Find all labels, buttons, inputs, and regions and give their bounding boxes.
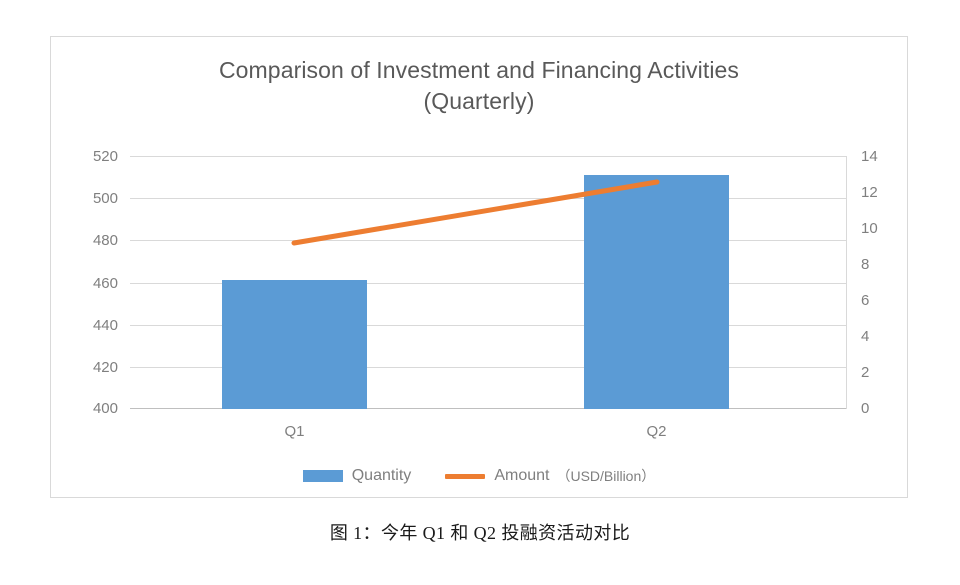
y-axis-tick-left-4: 440 (93, 318, 118, 333)
x-axis-label-q2: Q2 (584, 424, 729, 440)
y-axis-tick-right-2: 10 (861, 221, 878, 236)
y-axis-tick-right-3: 8 (861, 257, 869, 272)
legend-item-amount[interactable]: Amount （USD/Billion） (445, 467, 655, 485)
gridline-480 (130, 240, 846, 241)
gridline-520 (130, 156, 846, 157)
bar-quantity-q1[interactable] (222, 280, 367, 409)
y-axis-tick-right-7: 0 (861, 401, 869, 416)
legend-label-amount: Amount (494, 467, 549, 485)
bar-quantity-q2[interactable] (584, 175, 729, 409)
y-axis-tick-right-4: 6 (861, 293, 869, 308)
y-axis-tick-right-1: 12 (861, 185, 878, 200)
x-axis-label-q1: Q1 (222, 424, 367, 440)
y-axis-tick-left-5: 420 (93, 360, 118, 375)
legend-unit-amount: （USD/Billion） (556, 467, 655, 485)
chart-frame[interactable]: Comparison of Investment and Financing A… (50, 36, 908, 498)
bar-swatch-icon (303, 470, 343, 482)
plot-area: 520 500 480 460 440 420 400 14 12 10 8 6… (130, 156, 846, 409)
y-axis-tick-left-6: 400 (93, 401, 118, 416)
y-axis-tick-left-0: 520 (93, 149, 118, 164)
y-axis-tick-right-6: 2 (861, 365, 869, 380)
right-axis-line (846, 156, 847, 409)
legend-item-quantity[interactable]: Quantity (303, 467, 412, 485)
y-axis-tick-left-1: 500 (93, 191, 118, 206)
y-axis-tick-right-0: 14 (861, 149, 878, 164)
figure-caption: 图 1：今年 Q1 和 Q2 投融资活动对比 (0, 520, 960, 546)
figure-container: Comparison of Investment and Financing A… (0, 0, 960, 585)
y-axis-tick-left-2: 480 (93, 233, 118, 248)
chart-title: Comparison of Investment and Financing A… (51, 55, 907, 117)
gridline-500 (130, 198, 846, 199)
legend-label-quantity: Quantity (352, 467, 412, 485)
line-swatch-icon (445, 474, 485, 479)
y-axis-tick-right-5: 4 (861, 329, 869, 344)
y-axis-tick-left-3: 460 (93, 276, 118, 291)
chart-legend: Quantity Amount （USD/Billion） (51, 467, 907, 485)
